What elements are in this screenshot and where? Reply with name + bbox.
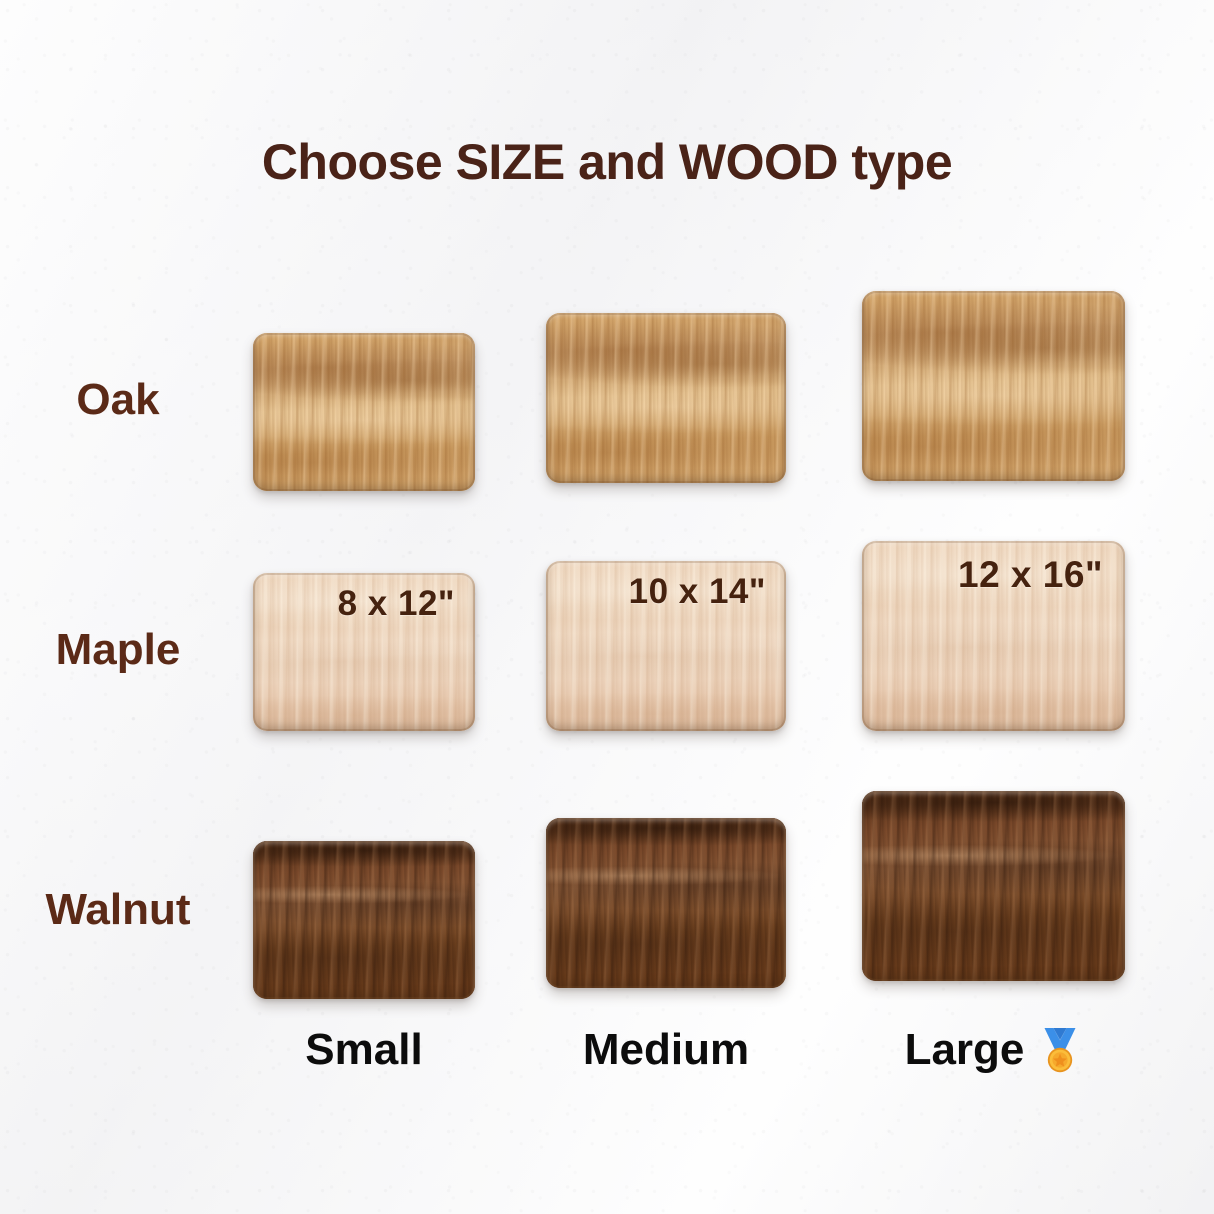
board-maple-small[interactable]: 8 x 12" bbox=[253, 573, 475, 731]
board-maple-medium[interactable]: 10 x 14" bbox=[546, 561, 786, 731]
size-label-small: Small bbox=[253, 1025, 475, 1075]
board-oak-large[interactable] bbox=[862, 291, 1125, 481]
page-title: Choose SIZE and WOOD type bbox=[0, 133, 1214, 191]
board-size-text: 12 x 16" bbox=[958, 554, 1103, 596]
size-label-medium-text: Medium bbox=[583, 1025, 749, 1075]
wood-label-maple: Maple bbox=[0, 625, 236, 675]
size-label-medium: Medium bbox=[546, 1025, 786, 1075]
wood-grain-texture bbox=[862, 791, 1125, 981]
board-walnut-small[interactable] bbox=[253, 841, 475, 999]
board-size-text: 8 x 12" bbox=[338, 584, 455, 624]
size-label-large: Large bbox=[862, 1025, 1125, 1075]
wood-label-oak: Oak bbox=[0, 375, 236, 425]
wood-grain-texture bbox=[253, 333, 475, 491]
board-size-text: 10 x 14" bbox=[629, 572, 766, 612]
size-label-small-text: Small bbox=[305, 1025, 422, 1075]
wood-grain-texture bbox=[546, 818, 786, 988]
size-label-large-text: Large bbox=[905, 1025, 1025, 1075]
board-maple-large[interactable]: 12 x 16" bbox=[862, 541, 1125, 731]
wood-grain-texture bbox=[862, 291, 1125, 481]
product-option-chart: Choose SIZE and WOOD type Oak Maple Waln… bbox=[0, 0, 1214, 1214]
wood-grain-texture bbox=[253, 841, 475, 999]
wood-grain-texture bbox=[546, 313, 786, 483]
board-walnut-large[interactable] bbox=[862, 791, 1125, 981]
wood-label-walnut: Walnut bbox=[0, 885, 236, 935]
board-oak-small[interactable] bbox=[253, 333, 475, 491]
board-oak-medium[interactable] bbox=[546, 313, 786, 483]
gold-medal-icon bbox=[1038, 1027, 1082, 1073]
board-walnut-medium[interactable] bbox=[546, 818, 786, 988]
